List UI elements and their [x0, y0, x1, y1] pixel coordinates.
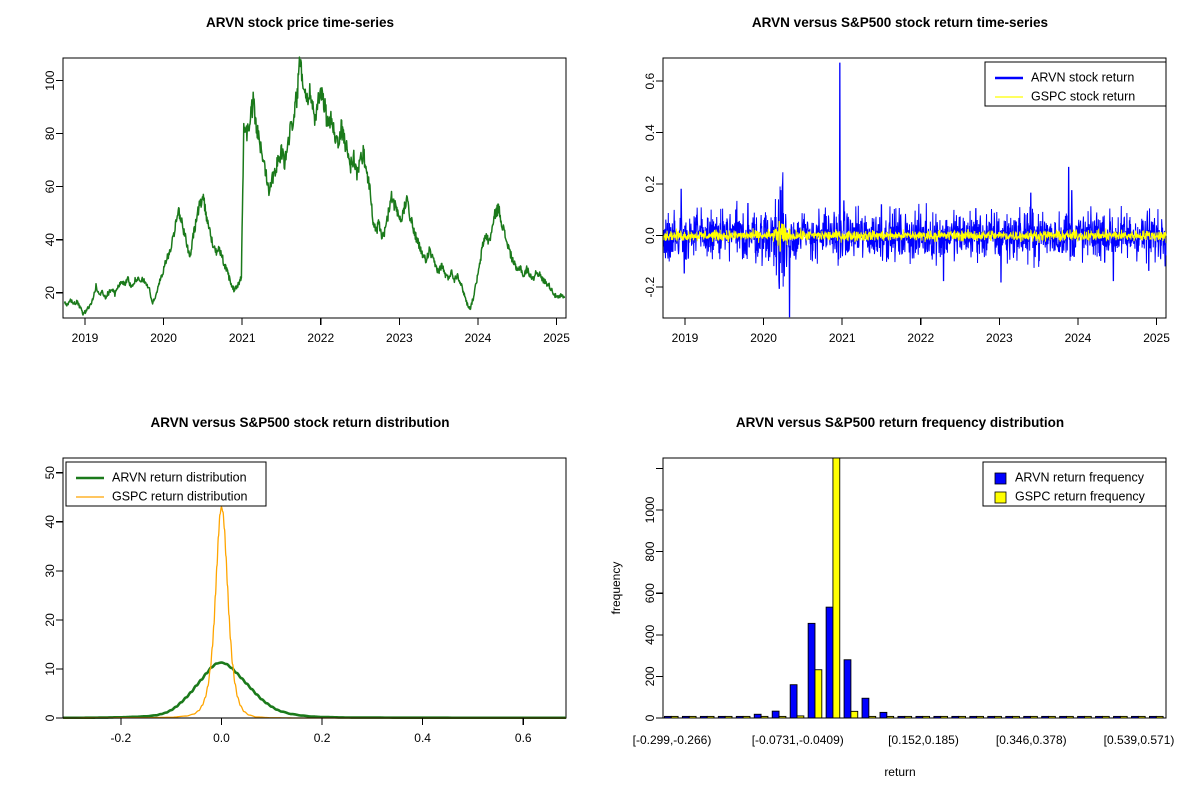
- x-tick-label: 2020: [150, 331, 177, 345]
- y-tick-label: 0.6: [643, 73, 657, 90]
- legend-swatch: [995, 492, 1006, 503]
- y-tick-label: 30: [43, 564, 57, 578]
- x-tick-label: 0.6: [515, 731, 532, 745]
- x-tick-label: 2022: [907, 331, 934, 345]
- x-tick-label: 2021: [229, 331, 256, 345]
- histogram-bar: [833, 458, 840, 718]
- y-axis-label: frequency: [609, 562, 623, 615]
- x-tick-label: 0.4: [414, 731, 431, 745]
- histogram-bar: [880, 712, 887, 718]
- x-tick-label: 2024: [465, 331, 492, 345]
- x-tick-label: 2021: [829, 331, 856, 345]
- y-tick-label: -0.2: [643, 276, 657, 297]
- y-tick-label: 20: [43, 613, 57, 627]
- legend-label: ARVN stock return: [1031, 70, 1134, 84]
- price-timeseries-chart: ARVN stock price time-series 20192020202…: [0, 0, 600, 400]
- x-tick-label: 2023: [986, 331, 1013, 345]
- x-tick-label: 2025: [1143, 331, 1170, 345]
- y-tick-label: 400: [643, 624, 657, 644]
- x-axis-label: return: [884, 765, 915, 779]
- y-tick-label: 10: [43, 662, 57, 676]
- y-tick-label: 80: [43, 127, 57, 141]
- panel-return-frequency: ARVN versus S&P500 return frequency dist…: [600, 400, 1200, 800]
- x-tick-label: 2023: [386, 331, 413, 345]
- y-tick-label: 1000: [643, 496, 657, 523]
- x-tick-label: [0.152,0.185): [888, 733, 959, 747]
- panel-price-timeseries: ARVN stock price time-series 20192020202…: [0, 0, 600, 400]
- x-tick-label: 0.0: [213, 731, 230, 745]
- x-tick-label: -0.2: [111, 731, 132, 745]
- panel-return-timeseries: ARVN versus S&P500 stock return time-ser…: [600, 0, 1200, 400]
- histogram-bar: [844, 660, 851, 718]
- x-tick-label: [-0.0731,-0.0409): [752, 733, 844, 747]
- histogram-bar: [862, 698, 869, 718]
- legend-swatch: [995, 473, 1006, 484]
- x-tick-label: 2022: [307, 331, 334, 345]
- panel-return-distribution: ARVN versus S&P500 stock return distribu…: [0, 400, 600, 800]
- panel-title: ARVN stock price time-series: [206, 15, 394, 30]
- x-tick-label: [0.539,0.571): [1104, 733, 1175, 747]
- legend-label: GSPC stock return: [1031, 89, 1135, 103]
- gspc-density-curve: [63, 507, 566, 718]
- legend-label: GSPC return distribution: [112, 489, 248, 503]
- y-tick-label: 200: [643, 666, 657, 686]
- price-series-line: [65, 57, 565, 315]
- x-tick-label: [-0.299,-0.266): [633, 733, 712, 747]
- legend-label: ARVN return distribution: [112, 470, 247, 484]
- y-tick-label: 50: [43, 466, 57, 480]
- y-tick-label: 0.2: [643, 175, 657, 192]
- histogram-bar: [772, 711, 779, 718]
- x-tick-label: 2025: [543, 331, 570, 345]
- legend-label: ARVN return frequency: [1015, 470, 1145, 484]
- x-tick-label: 2024: [1065, 331, 1092, 345]
- panel-title: ARVN versus S&P500 return frequency dist…: [736, 415, 1064, 430]
- y-tick-label: 20: [43, 286, 57, 300]
- figure-canvas: ARVN stock price time-series 20192020202…: [0, 0, 1200, 800]
- return-distribution-chart: ARVN versus S&P500 stock return distribu…: [0, 400, 600, 800]
- y-tick-label: 0: [643, 714, 657, 721]
- histogram-bar: [826, 607, 833, 718]
- panel-title: ARVN versus S&P500 stock return time-ser…: [752, 15, 1048, 30]
- panel-title: ARVN versus S&P500 stock return distribu…: [150, 415, 449, 430]
- y-tick-label: 0.4: [643, 124, 657, 141]
- y-tick-label: 100: [43, 70, 57, 90]
- x-tick-label: [0.346,0.378): [996, 733, 1067, 747]
- histogram-bar: [808, 623, 815, 718]
- return-timeseries-chart: ARVN versus S&P500 stock return time-ser…: [600, 0, 1200, 400]
- x-tick-label: 2020: [750, 331, 777, 345]
- y-tick-label: 40: [43, 233, 57, 247]
- y-tick-label: 40: [43, 515, 57, 529]
- x-tick-label: 0.2: [314, 731, 331, 745]
- y-tick-label: 800: [643, 541, 657, 561]
- y-tick-label: 0: [43, 714, 57, 721]
- return-frequency-chart: ARVN versus S&P500 return frequency dist…: [600, 400, 1200, 800]
- legend-label: GSPC return frequency: [1015, 489, 1146, 503]
- x-tick-label: 2019: [672, 331, 699, 345]
- histogram-bar: [754, 714, 761, 718]
- y-tick-label: 60: [43, 180, 57, 194]
- histogram-bar: [790, 685, 797, 718]
- y-tick-label: 0.0: [643, 227, 657, 244]
- x-tick-label: 2019: [72, 331, 99, 345]
- y-tick-label: 600: [643, 583, 657, 603]
- histogram-bar: [815, 670, 822, 718]
- arvn-density-curve: [63, 663, 566, 718]
- histogram-bar: [851, 711, 858, 718]
